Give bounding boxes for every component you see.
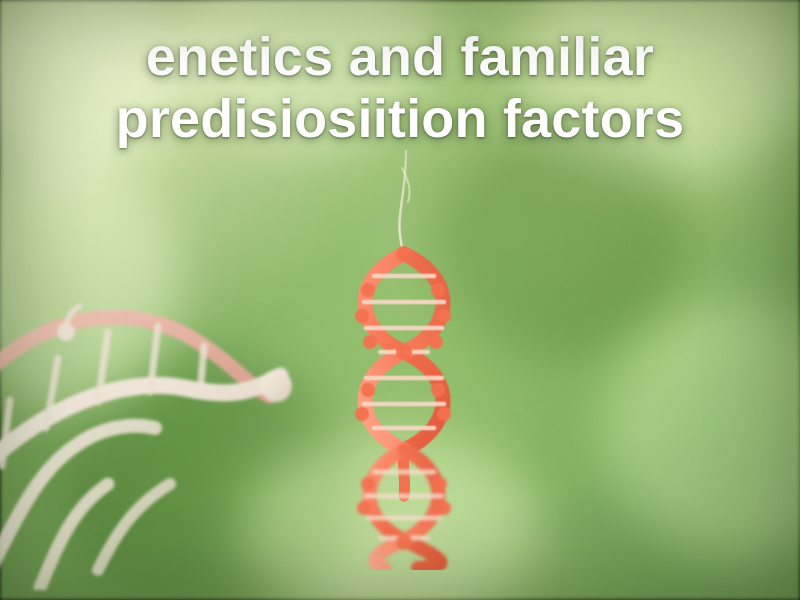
hanging-thread: [399, 150, 409, 258]
left-dna-helix: [0, 270, 320, 590]
title-line-1: enetics and familiar: [40, 28, 760, 86]
title-line-2: predisiosiition factors: [40, 90, 760, 148]
image-title: enetics and familiar predisiosiition fac…: [0, 28, 800, 149]
image-canvas: enetics and familiar predisiosiition fac…: [0, 0, 800, 600]
center-dna-helix: [322, 150, 482, 570]
